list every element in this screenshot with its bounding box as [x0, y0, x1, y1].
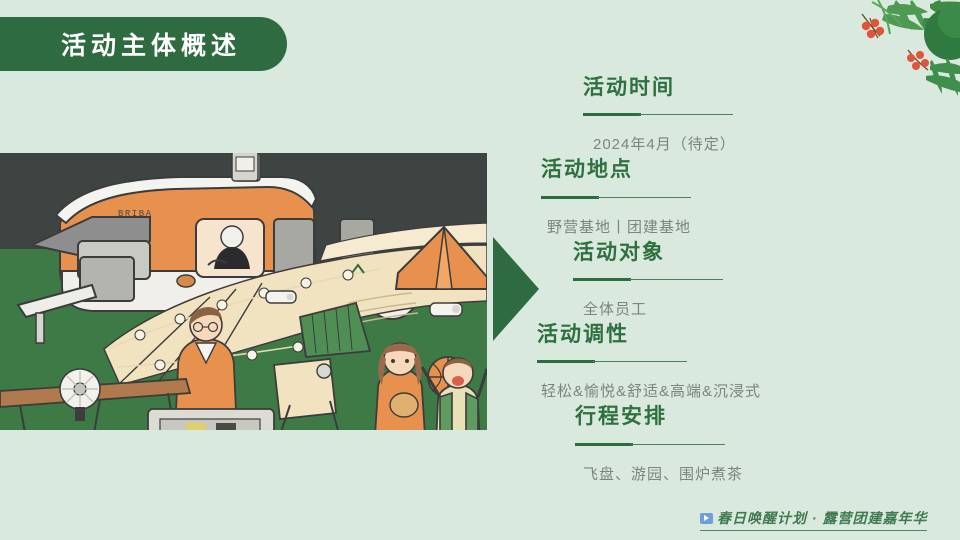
divider-thick-segment — [541, 196, 599, 199]
info-body-tone: 轻松&愉悦&舒适&高端&沉浸式 — [537, 380, 925, 401]
info-body-time: 2024年4月（待定） — [583, 133, 925, 154]
divider-thick-segment — [575, 443, 633, 446]
info-heading-tone: 活动调性 — [537, 321, 925, 349]
info-block-itinerary: 行程安排 飞盘、游园、围炉煮茶 — [505, 403, 925, 483]
footer-watermark: 春日唤醒计划 · 露营团建嘉年华 — [700, 508, 927, 531]
info-body-audience: 全体员工 — [573, 298, 925, 319]
play-badge-icon — [700, 513, 713, 524]
info-heading-itinerary: 行程安排 — [575, 403, 925, 431]
divider-time — [583, 113, 733, 117]
divider-thin-segment — [631, 444, 725, 445]
info-block-location: 活动地点 野营基地丨团建基地 — [505, 156, 925, 236]
info-column: 活动时间 2024年4月（待定） 活动地点 野营基地丨团建基地 活动对象 全体员… — [505, 74, 925, 486]
divider-itinerary — [575, 443, 725, 447]
info-heading-time: 活动时间 — [583, 74, 925, 102]
info-heading-audience: 活动对象 — [573, 239, 925, 267]
info-body-location: 野营基地丨团建基地 — [541, 216, 925, 237]
footer-watermark-text: 春日唤醒计划 · 露营团建嘉年华 — [717, 508, 927, 528]
divider-thick-segment — [573, 278, 631, 281]
divider-thin-segment — [629, 279, 723, 280]
divider-thick-segment — [583, 113, 641, 116]
camping-scene-illustration: BRIBA — [0, 153, 487, 430]
divider-location — [541, 196, 691, 200]
divider-thin-segment — [593, 361, 687, 362]
divider-thin-segment — [639, 114, 733, 115]
info-heading-location: 活动地点 — [541, 156, 925, 184]
section-title-banner: 活动主体概述 — [0, 17, 287, 71]
divider-audience — [573, 278, 723, 282]
slide-canvas: 活动主体概述 BRIBA — [0, 0, 960, 540]
divider-thin-segment — [597, 197, 691, 198]
divider-tone — [537, 360, 687, 364]
info-block-audience: 活动对象 全体员工 — [505, 239, 925, 319]
page-title: 活动主体概述 — [61, 26, 241, 62]
info-block-time: 活动时间 2024年4月（待定） — [505, 74, 925, 154]
divider-thick-segment — [537, 360, 595, 363]
info-block-tone: 活动调性 轻松&愉悦&舒适&高端&沉浸式 — [505, 321, 925, 401]
info-body-itinerary: 飞盘、游园、围炉煮茶 — [575, 463, 925, 484]
